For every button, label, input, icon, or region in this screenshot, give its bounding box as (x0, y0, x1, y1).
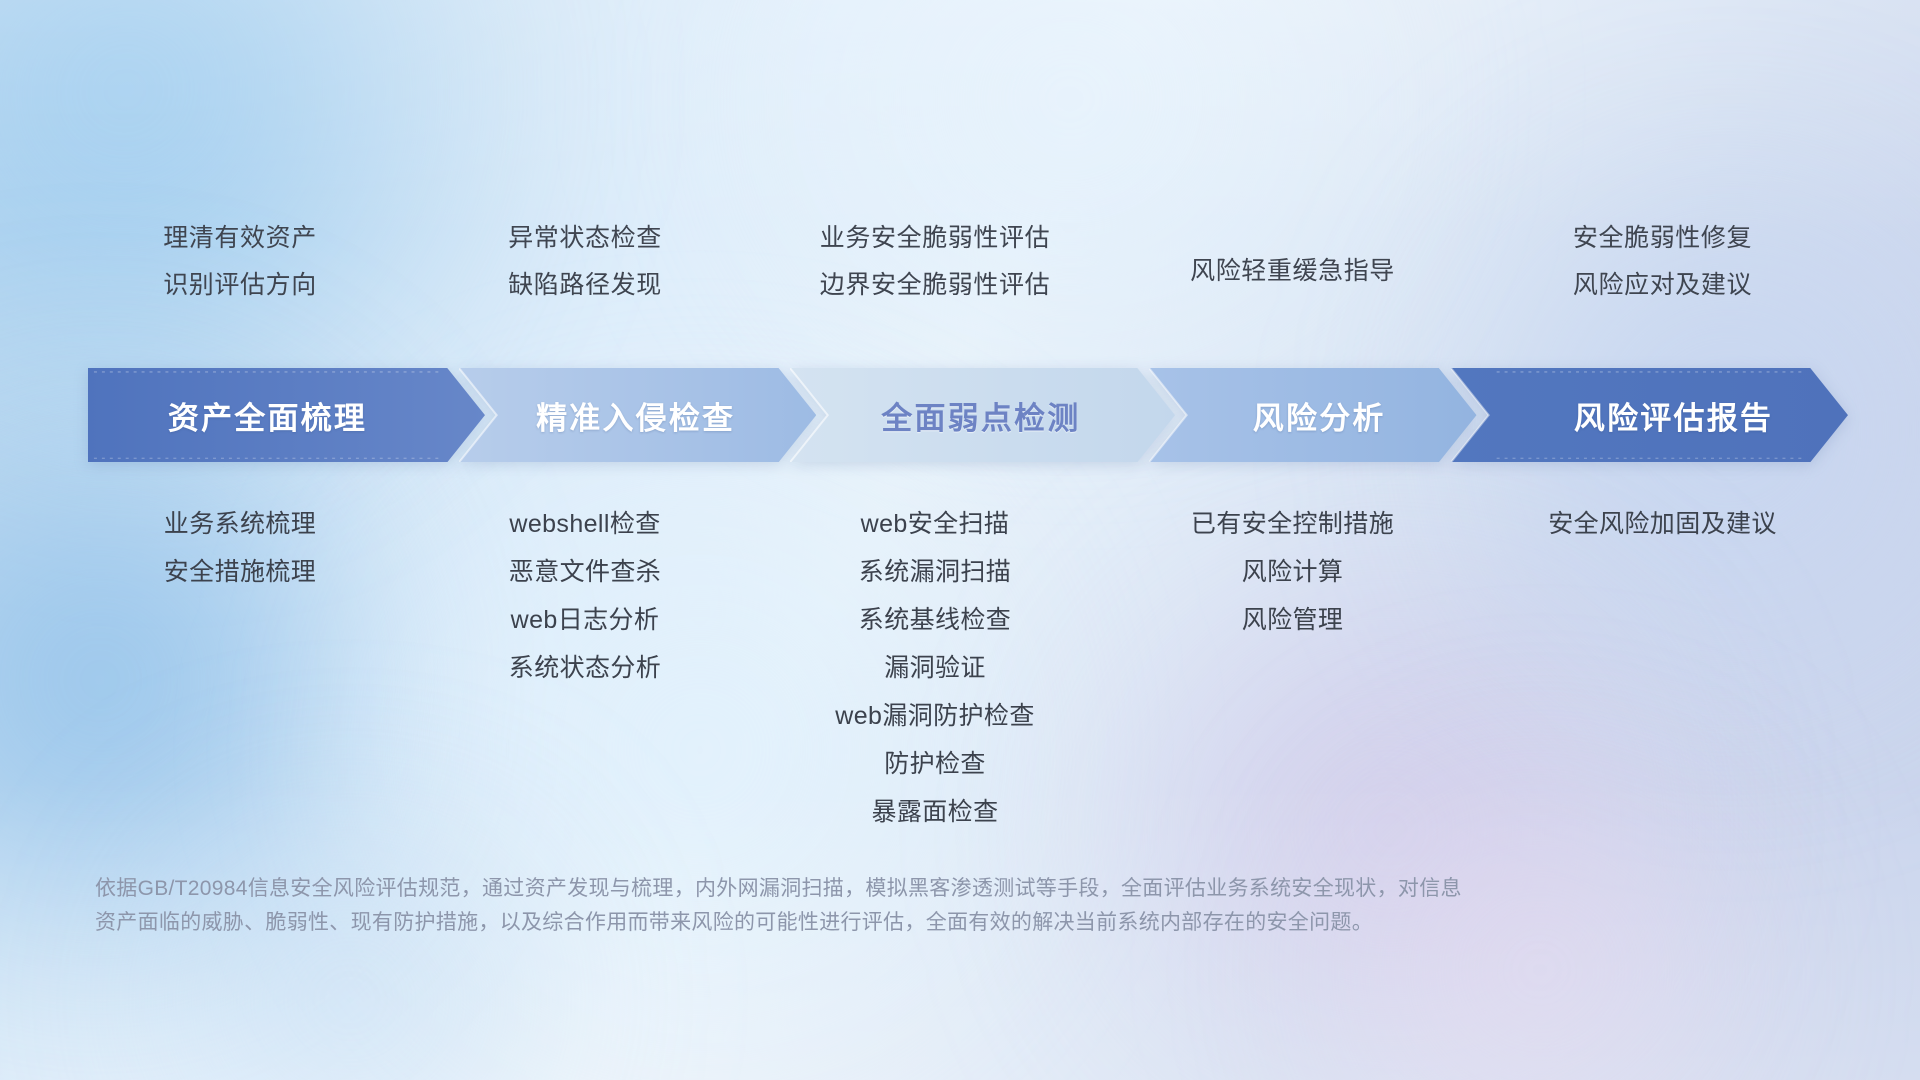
detail-item: 系统状态分析 (509, 644, 661, 692)
top-caption-item: 识别评估方向 (163, 262, 317, 309)
top-caption-group-2: 异常状态检查 缺陷路径发现 (420, 215, 750, 345)
detail-item: 系统漏洞扫描 (859, 548, 1011, 596)
detail-item: 系统基线检查 (859, 596, 1011, 644)
stage-chevron-5[interactable]: 风险评估报告 (1451, 368, 1848, 463)
top-caption-group-1: 理清有效资产 识别评估方向 (60, 215, 420, 345)
detail-column-1: 业务系统梳理 安全措施梳理 (60, 500, 420, 596)
top-caption-item: 异常状态检查 (508, 215, 662, 262)
stage-chevron-label: 资产全面梳理 (168, 393, 405, 438)
stage-chevron-label: 风险评估报告 (1526, 393, 1773, 438)
top-caption-group-3: 业务安全脆弱性评估 边界安全脆弱性评估 (750, 215, 1120, 345)
top-caption-item: 安全脆弱性修复 (1573, 215, 1752, 262)
detail-item: 暴露面检查 (871, 788, 998, 836)
detail-item: web日志分析 (511, 596, 660, 644)
top-caption-item: 边界安全脆弱性评估 (820, 262, 1050, 309)
stage-chevron-1[interactable]: 资产全面梳理 (88, 368, 485, 463)
top-caption-item: 理清有效资产 (163, 215, 317, 262)
detail-column-5: 安全风险加固及建议 (1465, 500, 1860, 548)
detail-item: 安全风险加固及建议 (1548, 500, 1777, 548)
stage-chevron-banner: 资产全面梳理 精准入侵检查 (88, 368, 1848, 463)
detail-column-3: web安全扫描 系统漏洞扫描 系统基线检查 漏洞验证 web漏洞防护检查 防护检… (750, 500, 1120, 836)
top-caption-row: 理清有效资产 识别评估方向 异常状态检查 缺陷路径发现 业务安全脆弱性评估 边界… (60, 215, 1860, 345)
top-caption-item: 缺陷路径发现 (508, 262, 662, 309)
process-diagram: 理清有效资产 识别评估方向 异常状态检查 缺陷路径发现 业务安全脆弱性评估 边界… (0, 0, 1920, 1080)
detail-item: 已有安全控制措施 (1191, 500, 1394, 548)
detail-item: webshell检查 (509, 500, 660, 548)
detail-item: web安全扫描 (861, 500, 1010, 548)
detail-column-4: 已有安全控制措施 风险计算 风险管理 (1120, 500, 1465, 644)
stage-chevron-3[interactable]: 全面弱点检测 (790, 368, 1175, 463)
top-caption-item: 风险轻重缓急指导 (1190, 248, 1395, 295)
stage-chevron-label: 风险分析 (1235, 393, 1392, 438)
detail-item: 安全措施梳理 (164, 548, 316, 596)
top-caption-group-4: 风险轻重缓急指导 (1120, 215, 1465, 345)
top-caption-group-5: 安全脆弱性修复 风险应对及建议 (1465, 215, 1860, 345)
detail-item: 风险计算 (1242, 548, 1344, 596)
detail-item: 漏洞验证 (884, 644, 986, 692)
detail-column-row: 业务系统梳理 安全措施梳理 webshell检查 恶意文件查杀 web日志分析 … (60, 500, 1860, 836)
detail-item: 恶意文件查杀 (509, 548, 661, 596)
footer-line: 依据GB/T20984信息安全风险评估规范，通过资产发现与梳理，内外网漏洞扫描，… (95, 872, 1735, 906)
top-caption-item: 业务安全脆弱性评估 (820, 215, 1050, 262)
stage-chevron-2[interactable]: 精准入侵检查 (459, 368, 816, 463)
footer-description: 依据GB/T20984信息安全风险评估规范，通过资产发现与梳理，内外网漏洞扫描，… (95, 872, 1735, 940)
detail-item: web漏洞防护检查 (835, 692, 1034, 740)
detail-item: 业务系统梳理 (164, 500, 316, 548)
detail-item: 风险管理 (1242, 596, 1344, 644)
detail-item: 防护检查 (884, 740, 986, 788)
stage-chevron-label: 精准入侵检查 (520, 393, 755, 438)
stage-chevron-4[interactable]: 风险分析 (1149, 368, 1477, 463)
stage-chevron-label: 全面弱点检测 (869, 393, 1096, 438)
top-caption-item: 风险应对及建议 (1573, 262, 1752, 309)
footer-line: 资产面临的威胁、脆弱性、现有防护措施，以及综合作用而带来风险的可能性进行评估，全… (95, 906, 1735, 940)
detail-column-2: webshell检查 恶意文件查杀 web日志分析 系统状态分析 (420, 500, 750, 692)
